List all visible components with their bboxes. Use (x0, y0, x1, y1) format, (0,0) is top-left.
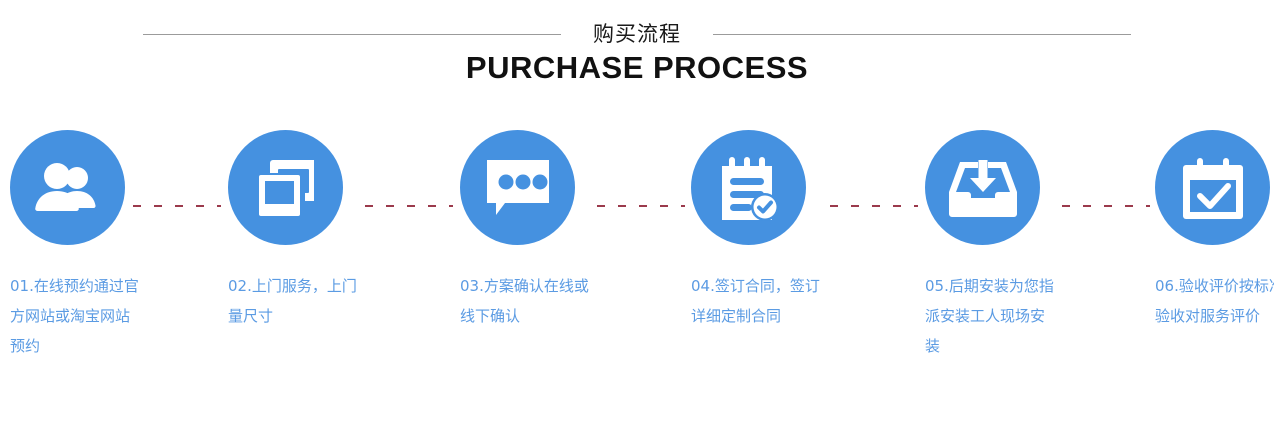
step-icon-circle-1[interactable] (10, 130, 125, 245)
step-caption-1: 01.在线预约通过官方网站或淘宝网站预约 (10, 271, 140, 361)
page-title-cn: 购买流程 (593, 18, 681, 50)
process-step-3[interactable]: 03.方案确认在线或线下确认 (460, 130, 660, 331)
process-step-5[interactable]: 05.后期安装为您指派安装工人现场安装 (925, 130, 1125, 361)
step-caption-3: 03.方案确认在线或线下确认 (460, 271, 590, 331)
users-icon (35, 162, 101, 214)
step-icon-circle-4[interactable] (691, 130, 806, 245)
step-icon-circle-6[interactable] (1155, 130, 1270, 245)
windows-copy-icon (255, 157, 317, 219)
process-steps: 01.在线预约通过官方网站或淘宝网站预约 02.上门服务，上门量尺寸 (0, 130, 1274, 420)
header-rule-left (143, 34, 561, 35)
step-caption-2: 02.上门服务，上门量尺寸 (228, 271, 358, 331)
contract-check-icon (718, 154, 780, 222)
process-step-1[interactable]: 01.在线预约通过官方网站或淘宝网站预约 (10, 130, 210, 361)
step-icon-circle-5[interactable] (925, 130, 1040, 245)
header-rule-right (713, 34, 1131, 35)
process-step-4[interactable]: 04.签订合同，签订详细定制合同 (691, 130, 891, 331)
chat-bubble-icon (485, 158, 551, 218)
step-icon-circle-2[interactable] (228, 130, 343, 245)
inbox-download-icon (948, 159, 1018, 217)
header-title-row: 购买流程 (0, 18, 1274, 50)
calendar-check-icon (1182, 156, 1244, 220)
step-icon-circle-3[interactable] (460, 130, 575, 245)
page-header: 购买流程 PURCHASE PROCESS (0, 0, 1274, 115)
step-caption-6: 06.验收评价按标准验收对服务评价 (1155, 271, 1274, 331)
step-caption-5: 05.后期安装为您指派安装工人现场安装 (925, 271, 1055, 361)
page-title-en: PURCHASE PROCESS (0, 50, 1274, 86)
process-step-6[interactable]: 06.验收评价按标准验收对服务评价 (1155, 130, 1274, 331)
process-step-2[interactable]: 02.上门服务，上门量尺寸 (228, 130, 428, 331)
step-caption-4: 04.签订合同，签订详细定制合同 (691, 271, 821, 331)
